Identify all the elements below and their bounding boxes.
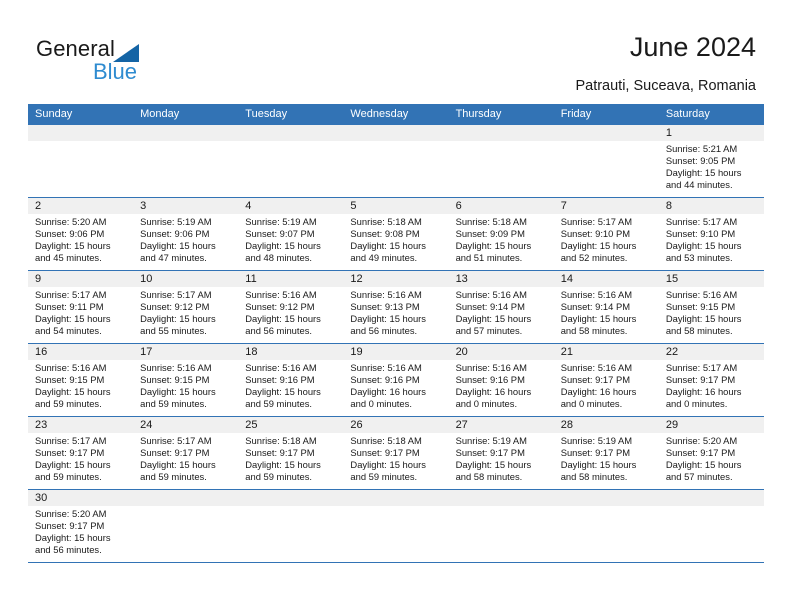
- daylight-text: Daylight: 15 hours and 59 minutes.: [140, 386, 232, 410]
- day-number: [343, 125, 448, 141]
- day-sun-info: Sunrise: 5:16 AMSunset: 9:16 PMDaylight:…: [238, 360, 343, 414]
- sunrise-text: Sunrise: 5:16 AM: [350, 362, 442, 374]
- sunrise-text: Sunrise: 5:18 AM: [350, 216, 442, 228]
- day-sun-info: Sunrise: 5:19 AMSunset: 9:07 PMDaylight:…: [238, 214, 343, 268]
- sunrise-text: Sunrise: 5:20 AM: [35, 216, 127, 228]
- day-sun-info: Sunrise: 5:17 AMSunset: 9:10 PMDaylight:…: [659, 214, 764, 268]
- sunset-text: Sunset: 9:17 PM: [561, 447, 653, 459]
- general-blue-logo[interactable]: General Blue: [36, 36, 236, 88]
- sunset-text: Sunset: 9:09 PM: [456, 228, 548, 240]
- day-number: 28: [554, 417, 659, 433]
- sunset-text: Sunset: 9:10 PM: [561, 228, 653, 240]
- day-number: 9: [28, 271, 133, 287]
- sunrise-text: Sunrise: 5:16 AM: [561, 289, 653, 301]
- daylight-text: Daylight: 15 hours and 59 minutes.: [35, 459, 127, 483]
- day-sun-info: Sunrise: 5:20 AMSunset: 9:17 PMDaylight:…: [28, 506, 133, 560]
- calendar-day-cell-empty: [554, 125, 659, 197]
- sunset-text: Sunset: 9:15 PM: [666, 301, 758, 313]
- sunset-text: Sunset: 9:07 PM: [245, 228, 337, 240]
- calendar-week-row: 1Sunrise: 5:21 AMSunset: 9:05 PMDaylight…: [28, 125, 764, 198]
- calendar-week-row: 16Sunrise: 5:16 AMSunset: 9:15 PMDayligh…: [28, 344, 764, 417]
- calendar-day-cell[interactable]: 8Sunrise: 5:17 AMSunset: 9:10 PMDaylight…: [659, 198, 764, 270]
- day-number: 29: [659, 417, 764, 433]
- day-number: 25: [238, 417, 343, 433]
- day-sun-info: Sunrise: 5:16 AMSunset: 9:15 PMDaylight:…: [28, 360, 133, 414]
- sunrise-text: Sunrise: 5:20 AM: [35, 508, 127, 520]
- day-number: 16: [28, 344, 133, 360]
- calendar-day-cell[interactable]: 1Sunrise: 5:21 AMSunset: 9:05 PMDaylight…: [659, 125, 764, 197]
- sunset-text: Sunset: 9:13 PM: [350, 301, 442, 313]
- sunrise-text: Sunrise: 5:21 AM: [666, 143, 758, 155]
- calendar-day-cell[interactable]: 18Sunrise: 5:16 AMSunset: 9:16 PMDayligh…: [238, 344, 343, 416]
- calendar-day-cell[interactable]: 21Sunrise: 5:16 AMSunset: 9:17 PMDayligh…: [554, 344, 659, 416]
- day-number: 17: [133, 344, 238, 360]
- calendar-day-cell[interactable]: 5Sunrise: 5:18 AMSunset: 9:08 PMDaylight…: [343, 198, 448, 270]
- calendar-day-cell[interactable]: 17Sunrise: 5:16 AMSunset: 9:15 PMDayligh…: [133, 344, 238, 416]
- sunset-text: Sunset: 9:05 PM: [666, 155, 758, 167]
- daylight-text: Daylight: 15 hours and 55 minutes.: [140, 313, 232, 337]
- day-number: [133, 125, 238, 141]
- calendar-day-cell[interactable]: 14Sunrise: 5:16 AMSunset: 9:14 PMDayligh…: [554, 271, 659, 343]
- calendar-day-cell[interactable]: 26Sunrise: 5:18 AMSunset: 9:17 PMDayligh…: [343, 417, 448, 489]
- sunrise-text: Sunrise: 5:17 AM: [666, 362, 758, 374]
- page-title: June 2024: [630, 32, 756, 63]
- day-sun-info: Sunrise: 5:16 AMSunset: 9:14 PMDaylight:…: [449, 287, 554, 341]
- sunrise-text: Sunrise: 5:16 AM: [245, 289, 337, 301]
- daylight-text: Daylight: 15 hours and 45 minutes.: [35, 240, 127, 264]
- daylight-text: Daylight: 15 hours and 51 minutes.: [456, 240, 548, 264]
- daylight-text: Daylight: 15 hours and 57 minutes.: [456, 313, 548, 337]
- calendar-week-row: 30Sunrise: 5:20 AMSunset: 9:17 PMDayligh…: [28, 490, 764, 563]
- day-number: 5: [343, 198, 448, 214]
- calendar-day-cell-empty: [343, 125, 448, 197]
- day-number: [449, 490, 554, 506]
- daylight-text: Daylight: 15 hours and 58 minutes.: [666, 313, 758, 337]
- day-number: 6: [449, 198, 554, 214]
- day-sun-info: Sunrise: 5:19 AMSunset: 9:17 PMDaylight:…: [554, 433, 659, 487]
- sunset-text: Sunset: 9:15 PM: [140, 374, 232, 386]
- sunrise-text: Sunrise: 5:19 AM: [456, 435, 548, 447]
- sunrise-text: Sunrise: 5:16 AM: [350, 289, 442, 301]
- daylight-text: Daylight: 15 hours and 47 minutes.: [140, 240, 232, 264]
- sunset-text: Sunset: 9:16 PM: [456, 374, 548, 386]
- sunset-text: Sunset: 9:17 PM: [456, 447, 548, 459]
- daylight-text: Daylight: 15 hours and 59 minutes.: [245, 386, 337, 410]
- day-number: 1: [659, 125, 764, 141]
- calendar-day-cell-empty: [28, 125, 133, 197]
- day-sun-info: Sunrise: 5:18 AMSunset: 9:17 PMDaylight:…: [343, 433, 448, 487]
- day-number: [238, 490, 343, 506]
- calendar-day-cell[interactable]: 24Sunrise: 5:17 AMSunset: 9:17 PMDayligh…: [133, 417, 238, 489]
- day-sun-info: Sunrise: 5:16 AMSunset: 9:15 PMDaylight:…: [659, 287, 764, 341]
- sunrise-text: Sunrise: 5:19 AM: [140, 216, 232, 228]
- sunset-text: Sunset: 9:17 PM: [350, 447, 442, 459]
- calendar-day-cell-empty: [554, 490, 659, 562]
- calendar-day-cell[interactable]: 13Sunrise: 5:16 AMSunset: 9:14 PMDayligh…: [449, 271, 554, 343]
- calendar-day-cell[interactable]: 23Sunrise: 5:17 AMSunset: 9:17 PMDayligh…: [28, 417, 133, 489]
- day-number: 8: [659, 198, 764, 214]
- daylight-text: Daylight: 15 hours and 44 minutes.: [666, 167, 758, 191]
- day-sun-info: Sunrise: 5:16 AMSunset: 9:12 PMDaylight:…: [238, 287, 343, 341]
- day-number: 15: [659, 271, 764, 287]
- sunrise-text: Sunrise: 5:19 AM: [245, 216, 337, 228]
- sunrise-text: Sunrise: 5:17 AM: [35, 289, 127, 301]
- day-number: 11: [238, 271, 343, 287]
- daylight-text: Daylight: 15 hours and 53 minutes.: [666, 240, 758, 264]
- sunset-text: Sunset: 9:12 PM: [245, 301, 337, 313]
- sunrise-text: Sunrise: 5:19 AM: [561, 435, 653, 447]
- daylight-text: Daylight: 15 hours and 59 minutes.: [350, 459, 442, 483]
- day-sun-info: Sunrise: 5:21 AMSunset: 9:05 PMDaylight:…: [659, 141, 764, 195]
- calendar-day-cell[interactable]: 19Sunrise: 5:16 AMSunset: 9:16 PMDayligh…: [343, 344, 448, 416]
- calendar-week-row: 23Sunrise: 5:17 AMSunset: 9:17 PMDayligh…: [28, 417, 764, 490]
- calendar-grid: Sunday Monday Tuesday Wednesday Thursday…: [28, 104, 764, 563]
- sunrise-text: Sunrise: 5:18 AM: [456, 216, 548, 228]
- sunrise-text: Sunrise: 5:17 AM: [140, 435, 232, 447]
- day-number: [343, 490, 448, 506]
- sunset-text: Sunset: 9:06 PM: [35, 228, 127, 240]
- day-number: 13: [449, 271, 554, 287]
- sunset-text: Sunset: 9:17 PM: [35, 520, 127, 532]
- day-number: 21: [554, 344, 659, 360]
- day-number: 26: [343, 417, 448, 433]
- weekday-tuesday: Tuesday: [238, 104, 343, 125]
- day-number: 7: [554, 198, 659, 214]
- daylight-text: Daylight: 15 hours and 58 minutes.: [456, 459, 548, 483]
- calendar-week-row: 2Sunrise: 5:20 AMSunset: 9:06 PMDaylight…: [28, 198, 764, 271]
- day-sun-info: Sunrise: 5:18 AMSunset: 9:17 PMDaylight:…: [238, 433, 343, 487]
- sunrise-text: Sunrise: 5:16 AM: [245, 362, 337, 374]
- day-sun-info: Sunrise: 5:16 AMSunset: 9:17 PMDaylight:…: [554, 360, 659, 414]
- day-sun-info: Sunrise: 5:17 AMSunset: 9:12 PMDaylight:…: [133, 287, 238, 341]
- page-header: General Blue June 2024 Patrauti, Suceava…: [0, 0, 792, 104]
- daylight-text: Daylight: 16 hours and 0 minutes.: [666, 386, 758, 410]
- day-number: 12: [343, 271, 448, 287]
- calendar-week-row: 9Sunrise: 5:17 AMSunset: 9:11 PMDaylight…: [28, 271, 764, 344]
- sunset-text: Sunset: 9:16 PM: [245, 374, 337, 386]
- calendar-day-cell[interactable]: 7Sunrise: 5:17 AMSunset: 9:10 PMDaylight…: [554, 198, 659, 270]
- day-sun-info: Sunrise: 5:20 AMSunset: 9:17 PMDaylight:…: [659, 433, 764, 487]
- calendar-day-cell[interactable]: 20Sunrise: 5:16 AMSunset: 9:16 PMDayligh…: [449, 344, 554, 416]
- day-number: 20: [449, 344, 554, 360]
- day-sun-info: Sunrise: 5:19 AMSunset: 9:17 PMDaylight:…: [449, 433, 554, 487]
- sunset-text: Sunset: 9:17 PM: [35, 447, 127, 459]
- sunrise-text: Sunrise: 5:16 AM: [456, 362, 548, 374]
- calendar-day-cell[interactable]: 2Sunrise: 5:20 AMSunset: 9:06 PMDaylight…: [28, 198, 133, 270]
- daylight-text: Daylight: 15 hours and 48 minutes.: [245, 240, 337, 264]
- calendar-day-cell-empty: [343, 490, 448, 562]
- sunset-text: Sunset: 9:12 PM: [140, 301, 232, 313]
- calendar-day-cell[interactable]: 3Sunrise: 5:19 AMSunset: 9:06 PMDaylight…: [133, 198, 238, 270]
- day-number: [133, 490, 238, 506]
- day-sun-info: Sunrise: 5:17 AMSunset: 9:17 PMDaylight:…: [133, 433, 238, 487]
- page-subtitle: Patrauti, Suceava, Romania: [575, 78, 756, 94]
- day-sun-info: Sunrise: 5:16 AMSunset: 9:15 PMDaylight:…: [133, 360, 238, 414]
- daylight-text: Daylight: 16 hours and 0 minutes.: [350, 386, 442, 410]
- day-sun-info: Sunrise: 5:18 AMSunset: 9:08 PMDaylight:…: [343, 214, 448, 268]
- day-number: 23: [28, 417, 133, 433]
- day-number: 27: [449, 417, 554, 433]
- day-sun-info: Sunrise: 5:19 AMSunset: 9:06 PMDaylight:…: [133, 214, 238, 268]
- calendar-day-cell[interactable]: 9Sunrise: 5:17 AMSunset: 9:11 PMDaylight…: [28, 271, 133, 343]
- sunset-text: Sunset: 9:17 PM: [666, 447, 758, 459]
- calendar-day-cell-empty: [238, 125, 343, 197]
- weekday-header-row: Sunday Monday Tuesday Wednesday Thursday…: [28, 104, 764, 125]
- day-number: 10: [133, 271, 238, 287]
- day-number: [554, 125, 659, 141]
- day-number: 24: [133, 417, 238, 433]
- sunrise-text: Sunrise: 5:16 AM: [666, 289, 758, 301]
- day-sun-info: Sunrise: 5:16 AMSunset: 9:13 PMDaylight:…: [343, 287, 448, 341]
- day-sun-info: Sunrise: 5:17 AMSunset: 9:10 PMDaylight:…: [554, 214, 659, 268]
- daylight-text: Daylight: 15 hours and 59 minutes.: [140, 459, 232, 483]
- daylight-text: Daylight: 15 hours and 56 minutes.: [35, 532, 127, 556]
- day-number: [554, 490, 659, 506]
- calendar-day-cell[interactable]: 12Sunrise: 5:16 AMSunset: 9:13 PMDayligh…: [343, 271, 448, 343]
- day-sun-info: Sunrise: 5:18 AMSunset: 9:09 PMDaylight:…: [449, 214, 554, 268]
- calendar-day-cell[interactable]: 22Sunrise: 5:17 AMSunset: 9:17 PMDayligh…: [659, 344, 764, 416]
- calendar-day-cell-empty: [659, 490, 764, 562]
- calendar-day-cell[interactable]: 16Sunrise: 5:16 AMSunset: 9:15 PMDayligh…: [28, 344, 133, 416]
- daylight-text: Daylight: 15 hours and 56 minutes.: [245, 313, 337, 337]
- logo-text-blue: Blue: [93, 59, 137, 85]
- sunset-text: Sunset: 9:11 PM: [35, 301, 127, 313]
- calendar-day-cell[interactable]: 28Sunrise: 5:19 AMSunset: 9:17 PMDayligh…: [554, 417, 659, 489]
- weekday-wednesday: Wednesday: [343, 104, 448, 125]
- sunrise-text: Sunrise: 5:17 AM: [666, 216, 758, 228]
- calendar-day-cell[interactable]: 27Sunrise: 5:19 AMSunset: 9:17 PMDayligh…: [449, 417, 554, 489]
- day-sun-info: Sunrise: 5:16 AMSunset: 9:16 PMDaylight:…: [449, 360, 554, 414]
- calendar-page: General Blue June 2024 Patrauti, Suceava…: [0, 0, 792, 612]
- day-sun-info: Sunrise: 5:17 AMSunset: 9:17 PMDaylight:…: [28, 433, 133, 487]
- sunrise-text: Sunrise: 5:18 AM: [245, 435, 337, 447]
- sunset-text: Sunset: 9:08 PM: [350, 228, 442, 240]
- daylight-text: Daylight: 15 hours and 52 minutes.: [561, 240, 653, 264]
- day-sun-info: Sunrise: 5:17 AMSunset: 9:11 PMDaylight:…: [28, 287, 133, 341]
- day-number: 2: [28, 198, 133, 214]
- daylight-text: Daylight: 15 hours and 49 minutes.: [350, 240, 442, 264]
- sunrise-text: Sunrise: 5:18 AM: [350, 435, 442, 447]
- sunset-text: Sunset: 9:06 PM: [140, 228, 232, 240]
- daylight-text: Daylight: 16 hours and 0 minutes.: [561, 386, 653, 410]
- sunset-text: Sunset: 9:14 PM: [561, 301, 653, 313]
- calendar-day-cell-empty: [238, 490, 343, 562]
- day-sun-info: Sunrise: 5:16 AMSunset: 9:14 PMDaylight:…: [554, 287, 659, 341]
- day-number: [28, 125, 133, 141]
- sunrise-text: Sunrise: 5:17 AM: [35, 435, 127, 447]
- sunset-text: Sunset: 9:17 PM: [245, 447, 337, 459]
- calendar-day-cell[interactable]: 29Sunrise: 5:20 AMSunset: 9:17 PMDayligh…: [659, 417, 764, 489]
- weekday-thursday: Thursday: [449, 104, 554, 125]
- day-number: [659, 490, 764, 506]
- sunset-text: Sunset: 9:17 PM: [140, 447, 232, 459]
- day-number: 14: [554, 271, 659, 287]
- day-number: 18: [238, 344, 343, 360]
- day-number: 4: [238, 198, 343, 214]
- sunrise-text: Sunrise: 5:17 AM: [140, 289, 232, 301]
- sunset-text: Sunset: 9:17 PM: [666, 374, 758, 386]
- daylight-text: Daylight: 15 hours and 59 minutes.: [245, 459, 337, 483]
- sunset-text: Sunset: 9:14 PM: [456, 301, 548, 313]
- calendar-day-cell-empty: [133, 125, 238, 197]
- sunrise-text: Sunrise: 5:16 AM: [561, 362, 653, 374]
- weekday-monday: Monday: [133, 104, 238, 125]
- sunrise-text: Sunrise: 5:16 AM: [456, 289, 548, 301]
- day-sun-info: Sunrise: 5:17 AMSunset: 9:17 PMDaylight:…: [659, 360, 764, 414]
- sunrise-text: Sunrise: 5:17 AM: [561, 216, 653, 228]
- weekday-saturday: Saturday: [659, 104, 764, 125]
- calendar-day-cell-empty: [133, 490, 238, 562]
- sunset-text: Sunset: 9:16 PM: [350, 374, 442, 386]
- sunset-text: Sunset: 9:17 PM: [561, 374, 653, 386]
- weekday-friday: Friday: [554, 104, 659, 125]
- day-number: 3: [133, 198, 238, 214]
- calendar-day-cell[interactable]: 10Sunrise: 5:17 AMSunset: 9:12 PMDayligh…: [133, 271, 238, 343]
- day-number: [238, 125, 343, 141]
- sunrise-text: Sunrise: 5:16 AM: [140, 362, 232, 374]
- calendar-day-cell[interactable]: 4Sunrise: 5:19 AMSunset: 9:07 PMDaylight…: [238, 198, 343, 270]
- daylight-text: Daylight: 15 hours and 59 minutes.: [35, 386, 127, 410]
- calendar-day-cell-empty: [449, 490, 554, 562]
- daylight-text: Daylight: 15 hours and 58 minutes.: [561, 313, 653, 337]
- sunset-text: Sunset: 9:15 PM: [35, 374, 127, 386]
- day-number: 22: [659, 344, 764, 360]
- day-number: 19: [343, 344, 448, 360]
- calendar-day-cell[interactable]: 15Sunrise: 5:16 AMSunset: 9:15 PMDayligh…: [659, 271, 764, 343]
- day-number: [449, 125, 554, 141]
- calendar-weeks: 1Sunrise: 5:21 AMSunset: 9:05 PMDaylight…: [28, 125, 764, 563]
- sunrise-text: Sunrise: 5:20 AM: [666, 435, 758, 447]
- sunset-text: Sunset: 9:10 PM: [666, 228, 758, 240]
- day-sun-info: Sunrise: 5:20 AMSunset: 9:06 PMDaylight:…: [28, 214, 133, 268]
- daylight-text: Daylight: 15 hours and 57 minutes.: [666, 459, 758, 483]
- sunrise-text: Sunrise: 5:16 AM: [35, 362, 127, 374]
- calendar-day-cell[interactable]: 25Sunrise: 5:18 AMSunset: 9:17 PMDayligh…: [238, 417, 343, 489]
- calendar-day-cell[interactable]: 6Sunrise: 5:18 AMSunset: 9:09 PMDaylight…: [449, 198, 554, 270]
- day-sun-info: Sunrise: 5:16 AMSunset: 9:16 PMDaylight:…: [343, 360, 448, 414]
- calendar-day-cell-empty: [449, 125, 554, 197]
- daylight-text: Daylight: 16 hours and 0 minutes.: [456, 386, 548, 410]
- calendar-day-cell[interactable]: 30Sunrise: 5:20 AMSunset: 9:17 PMDayligh…: [28, 490, 133, 562]
- weekday-sunday: Sunday: [28, 104, 133, 125]
- daylight-text: Daylight: 15 hours and 58 minutes.: [561, 459, 653, 483]
- daylight-text: Daylight: 15 hours and 56 minutes.: [350, 313, 442, 337]
- calendar-day-cell[interactable]: 11Sunrise: 5:16 AMSunset: 9:12 PMDayligh…: [238, 271, 343, 343]
- daylight-text: Daylight: 15 hours and 54 minutes.: [35, 313, 127, 337]
- day-number: 30: [28, 490, 133, 506]
